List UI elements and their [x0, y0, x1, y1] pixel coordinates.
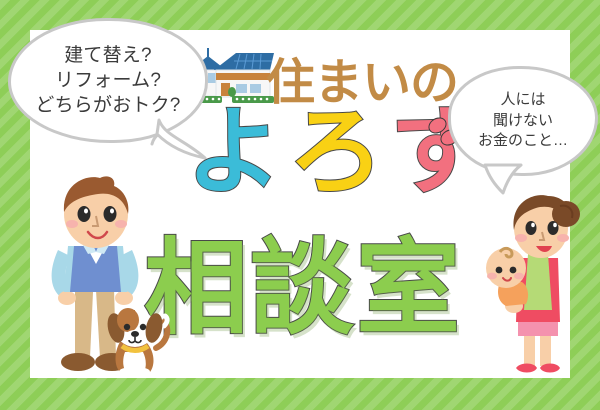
bubble-right-tail [481, 163, 525, 195]
bubble-left-tail [155, 118, 209, 162]
speech-bubble-right: 人には 聞けない お金のこと… [448, 66, 598, 176]
bubble-right-line-3: お金のこと… [478, 131, 568, 152]
bubble-left-line-3: どちらがおトク? [35, 93, 180, 118]
woman-with-baby-illustration [478, 192, 586, 378]
kana-ro: ろ [288, 96, 390, 208]
bubble-right-line-1: 人には [500, 90, 545, 111]
bubble-left-line-1: 建て替え? [64, 43, 152, 68]
bubble-right-line-2: 聞けない [493, 111, 553, 132]
bubble-left-line-2: リフォーム? [55, 68, 161, 93]
title-main-text: 相談室 [144, 236, 462, 340]
poster-canvas: 住まいの よろす 相談室 建て替え? リフォーム? どちらがおトク? 人には 聞… [0, 0, 600, 410]
speech-bubble-left: 建て替え? リフォーム? どちらがおトク? [8, 18, 208, 143]
title-middle-kana: よろす [186, 104, 492, 200]
dog-illustration [98, 300, 172, 378]
